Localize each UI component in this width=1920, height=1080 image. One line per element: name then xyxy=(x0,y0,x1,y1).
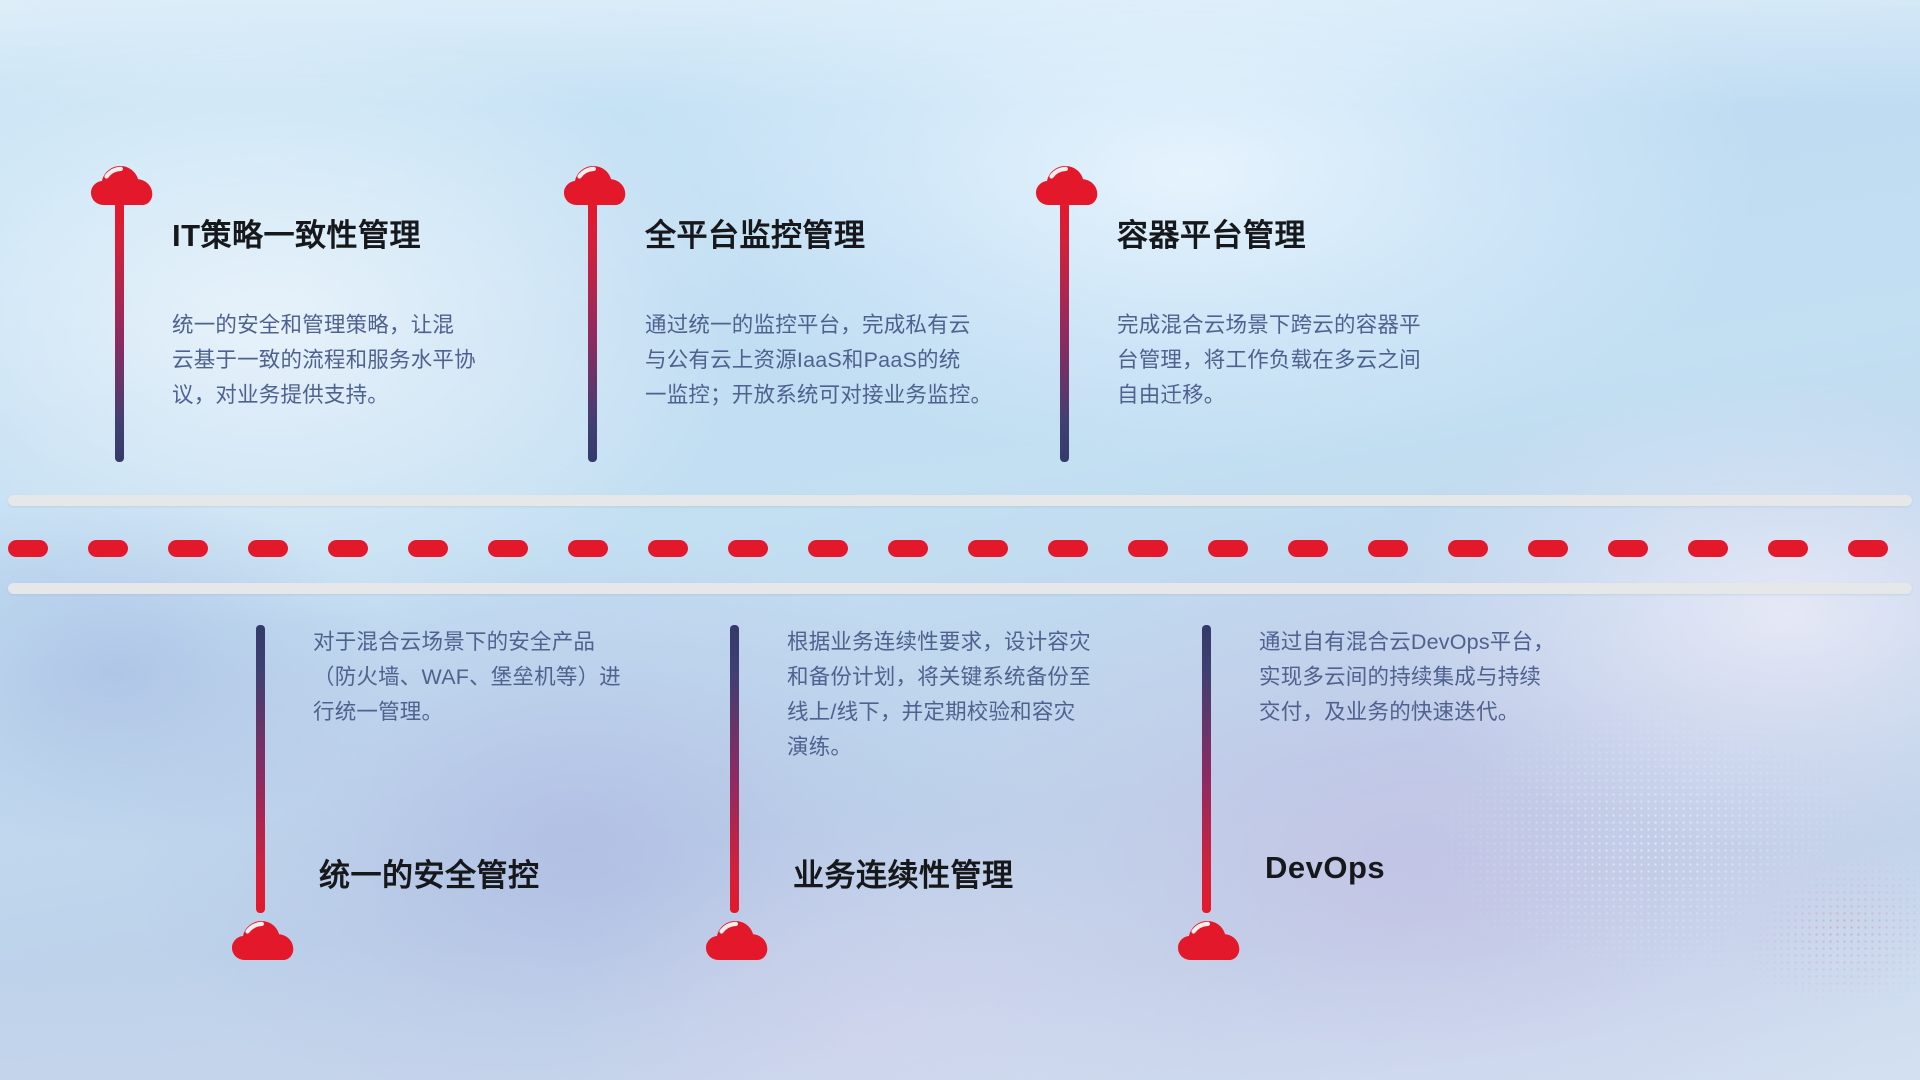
divider-dash xyxy=(568,540,608,557)
divider-dash xyxy=(8,540,48,557)
card-body: 根据业务连续性要求，设计容灾 和备份计划，将关键系统备份至 线上/线下，并定期校… xyxy=(787,625,1147,765)
divider-dash xyxy=(1368,540,1408,557)
cloud-icon xyxy=(705,915,769,963)
cloud-icon xyxy=(231,915,295,963)
timeline-divider xyxy=(0,540,1920,557)
divider-dash xyxy=(1288,540,1328,557)
divider-dash xyxy=(808,540,848,557)
card-stem xyxy=(730,625,739,913)
card-title: DevOps xyxy=(1265,850,1385,886)
card-stem xyxy=(1202,625,1211,913)
card-title: 统一的安全管控 xyxy=(319,850,540,895)
divider-dash xyxy=(648,540,688,557)
divider-rail-bottom xyxy=(8,583,1912,594)
card-body: 对于混合云场景下的安全产品 （防火墙、WAF、堡垒机等）进 行统一管理。 xyxy=(313,625,673,730)
divider-dash xyxy=(168,540,208,557)
cloud-pin xyxy=(231,915,291,963)
card-title: 容器平台管理 xyxy=(1117,210,1306,255)
divider-dash xyxy=(248,540,288,557)
divider-dash xyxy=(88,540,128,557)
divider-dash xyxy=(1688,540,1728,557)
divider-dash xyxy=(1048,540,1088,557)
card-stem xyxy=(1060,202,1069,462)
cloud-pin xyxy=(563,160,623,208)
cloud-pin xyxy=(1035,160,1095,208)
card-stem xyxy=(588,202,597,462)
card-title: 业务连续性管理 xyxy=(793,850,1014,895)
divider-dash xyxy=(488,540,528,557)
cloud-icon xyxy=(563,160,627,208)
divider-dash xyxy=(888,540,928,557)
divider-dash xyxy=(1608,540,1648,557)
divider-dash xyxy=(1768,540,1808,557)
card-body: 统一的安全和管理策略，让混 云基于一致的流程和服务水平协 议，对业务提供支持。 xyxy=(172,308,532,413)
divider-dash xyxy=(408,540,448,557)
cloud-icon xyxy=(90,160,154,208)
infographic-canvas: IT策略一致性管理 统一的安全和管理策略，让混 云基于一致的流程和服务水平协 议… xyxy=(0,0,1920,1080)
divider-dash xyxy=(1528,540,1568,557)
divider-dash xyxy=(728,540,768,557)
cloud-pin xyxy=(705,915,765,963)
divider-dash xyxy=(968,540,1008,557)
divider-dash xyxy=(1848,540,1888,557)
card-stem xyxy=(115,202,124,462)
card-title: IT策略一致性管理 xyxy=(172,210,421,255)
divider-rail-top xyxy=(8,495,1912,506)
divider-dash xyxy=(328,540,368,557)
card-title: 全平台监控管理 xyxy=(645,210,866,255)
divider-dash xyxy=(1128,540,1168,557)
cloud-icon xyxy=(1177,915,1241,963)
card-body: 通过统一的监控平台，完成私有云 与公有云上资源IaaS和PaaS的统 一监控；开… xyxy=(645,308,1005,413)
divider-dash xyxy=(1208,540,1248,557)
card-body: 通过自有混合云DevOps平台， 实现多云间的持续集成与持续 交付，及业务的快速… xyxy=(1259,625,1619,730)
cloud-pin xyxy=(1177,915,1237,963)
card-body: 完成混合云场景下跨云的容器平 台管理，将工作负载在多云之间 自由迁移。 xyxy=(1117,308,1477,413)
divider-dash xyxy=(1448,540,1488,557)
card-stem xyxy=(256,625,265,913)
cloud-icon xyxy=(1035,160,1099,208)
cloud-pin xyxy=(90,160,150,208)
